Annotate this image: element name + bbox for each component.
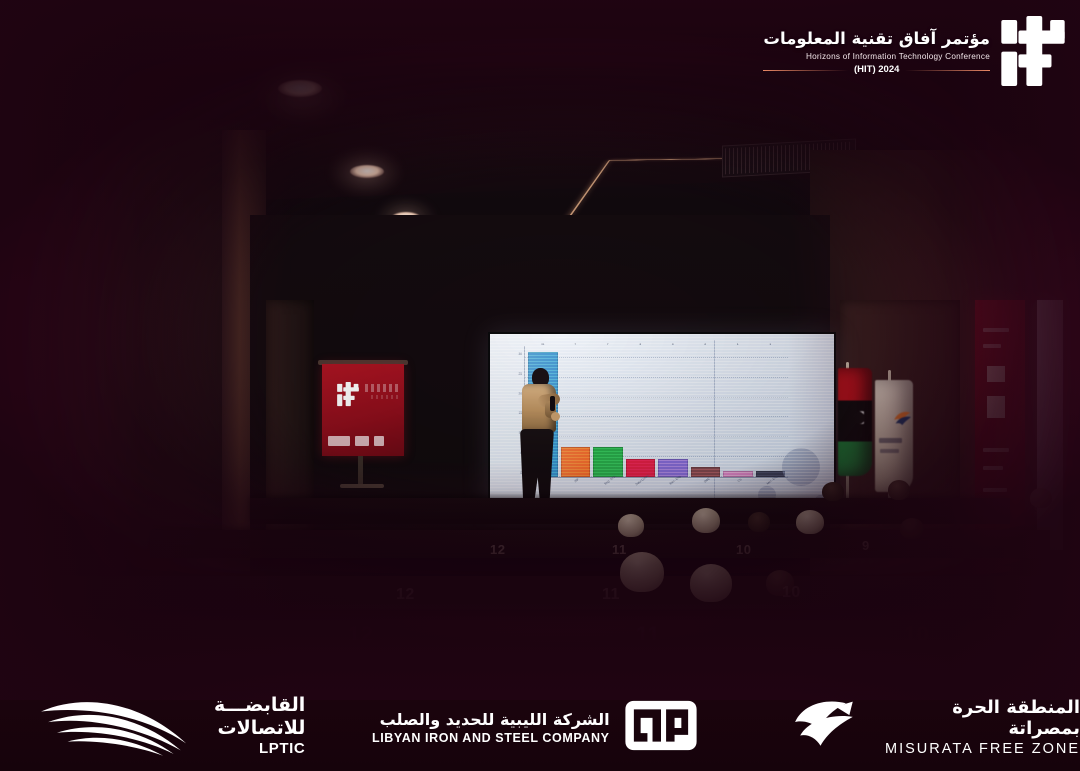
- lptic-name-ar-line2: للاتصالات: [214, 717, 305, 739]
- conference-title-english: Horizons of Information Technology Confe…: [763, 52, 990, 61]
- hit-hash-icon: [336, 382, 360, 408]
- lptic-name-en: LPTIC: [214, 740, 305, 757]
- sponsor-libyan-iron-and-steel: الشركة الليبية للحديد والصلب LIBYAN IRON…: [372, 699, 700, 757]
- lisco-text-block: الشركة الليبية للحديد والصلب LIBYAN IRON…: [372, 711, 610, 746]
- bar-value-label: 7: [607, 342, 609, 346]
- audience-head: [690, 564, 732, 602]
- mfz-name-ar: المنطقة الحرة بمصراتة: [880, 697, 1080, 739]
- audience-head: [620, 552, 664, 592]
- bar-group: 4 Data Comm.: [627, 346, 655, 477]
- sponsor-lptic: القابضـــة للاتصالات LPTIC: [34, 688, 305, 763]
- libya-flag: [838, 368, 872, 476]
- seat-row: [60, 576, 1080, 610]
- seat-number: 9: [862, 538, 870, 553]
- seat-number: 11: [612, 542, 627, 557]
- bar-value-label: 4: [639, 342, 641, 346]
- seat-number: 11: [602, 586, 620, 604]
- bar-group: 7 Eng. Tech.: [594, 346, 622, 477]
- seat-number: 10: [736, 542, 751, 557]
- audience-head: [900, 518, 924, 539]
- lisco-name-ar: الشركة الليبية للحديد والصلب: [372, 711, 610, 730]
- y-tick: 30: [518, 352, 522, 356]
- seat-number: 9: [1034, 502, 1042, 517]
- bar-value-label: 4: [672, 342, 674, 346]
- audience-head: [888, 480, 910, 500]
- seat-number: 12: [490, 542, 505, 557]
- lptic-text-block: القابضـــة للاتصالات LPTIC: [214, 694, 305, 757]
- bar-value-label: 1: [737, 342, 739, 346]
- conference-title-block: مؤتمر آفاق تقنية المعلومات Horizons of I…: [763, 30, 990, 75]
- bar-value-label: 31: [541, 342, 544, 346]
- mfz-text-block: المنطقة الحرة بمصراتة MISURATA FREE ZONE: [880, 697, 1080, 757]
- bar-group: 4 Elec. Eng.: [659, 346, 687, 477]
- conference-year-row: (HIT) 2024: [763, 65, 990, 76]
- lisco-name-en: LIBYAN IRON AND STEEL COMPANY: [372, 731, 610, 745]
- mfz-bird-icon: [790, 698, 868, 756]
- seat-number: 12: [396, 586, 415, 604]
- mfz-bird-icon: [892, 409, 913, 431]
- sponsor-footer: القابضـــة للاتصالات LPTIC الشركة الليبي…: [0, 671, 1080, 771]
- seat-number: 10: [782, 584, 801, 602]
- lptic-wave-icon: [34, 688, 202, 763]
- audience-head: [618, 514, 644, 537]
- audience-head: [748, 512, 770, 532]
- bar-group: 2 SWE: [692, 346, 720, 477]
- rule-left: [763, 70, 848, 71]
- bar-value-label: 1: [769, 342, 771, 346]
- hit-rollup-banner: [322, 364, 404, 456]
- bar-value-label: 7: [574, 342, 576, 346]
- conference-header: مؤتمر آفاق تقنية المعلومات Horizons of I…: [736, 0, 1080, 106]
- rule-right: [905, 70, 990, 71]
- audience-head: [822, 482, 844, 501]
- downlight-icon: [278, 80, 322, 97]
- lisco-icon: [622, 699, 700, 757]
- bar-value-label: 2: [704, 342, 706, 346]
- microphone-icon: [550, 396, 555, 411]
- conference-year: (HIT) 2024: [854, 65, 899, 76]
- sponsor-misurata-free-zone: المنطقة الحرة بمصراتة MISURATA FREE ZONE: [790, 697, 1080, 757]
- downlight-icon: [350, 165, 384, 178]
- hit-hash-logo-icon: [1000, 16, 1066, 90]
- lptic-name-ar-line1: القابضـــة: [214, 694, 305, 716]
- audience-head: [796, 510, 824, 534]
- conference-photo-banner: 0 5 10 15 20 25 30: [0, 0, 1080, 771]
- mfz-name-en: MISURATA FREE ZONE: [880, 741, 1080, 757]
- conference-title-arabic: مؤتمر آفاق تقنية المعلومات: [763, 30, 990, 48]
- audience-head: [692, 508, 720, 533]
